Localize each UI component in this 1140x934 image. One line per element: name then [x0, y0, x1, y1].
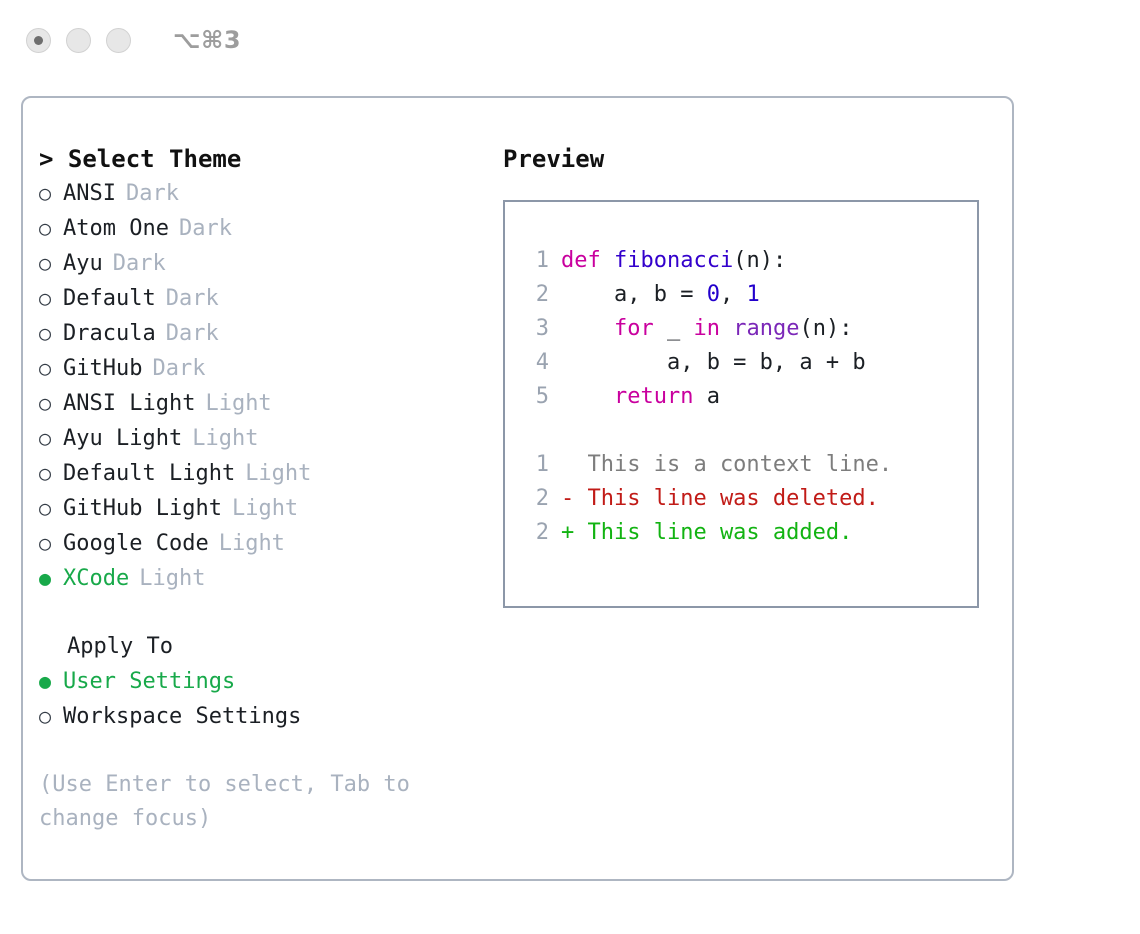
theme-option-row[interactable]: ○Atom OneDark: [39, 211, 479, 246]
theme-option-label: Default Light: [63, 457, 235, 491]
theme-option-variant-tag: Light: [232, 492, 298, 526]
radio-unselected-icon[interactable]: ○: [39, 526, 63, 560]
line-number: 1: [523, 448, 549, 482]
preview-heading: Preview: [503, 142, 983, 176]
code-token: This is a context line.: [561, 448, 892, 482]
code-token: for: [614, 312, 654, 346]
radio-unselected-icon[interactable]: ○: [39, 421, 63, 455]
theme-option-label: GitHub: [63, 352, 142, 386]
apply-to-option-label: User Settings: [63, 665, 235, 699]
radio-unselected-icon[interactable]: ○: [39, 211, 63, 245]
apply-to-heading: Apply To: [39, 630, 479, 664]
diff-sample: 1 This is a context line.2- This line wa…: [523, 448, 977, 550]
theme-option-label: Ayu Light: [63, 422, 182, 456]
theme-option-variant-tag: Light: [192, 422, 258, 456]
theme-option-variant-tag: Light: [245, 457, 311, 491]
main-panel: > Select Theme ○ANSIDark○Atom OneDark○Ay…: [21, 96, 1014, 881]
code-token: a, b =: [561, 278, 707, 312]
window-dot-third-icon[interactable]: [106, 28, 131, 53]
line-number: 5: [523, 380, 549, 414]
theme-option-row[interactable]: ○GitHub LightLight: [39, 491, 479, 526]
theme-option-label: ANSI: [63, 177, 116, 211]
window-dot-second-icon[interactable]: [66, 28, 91, 53]
line-number: 2: [523, 482, 549, 516]
radio-unselected-icon[interactable]: ○: [39, 351, 63, 385]
theme-option-label: XCode: [63, 562, 129, 596]
diff-line: 1 This is a context line.: [523, 448, 977, 482]
select-theme-heading: > Select Theme: [39, 142, 479, 176]
theme-option-row[interactable]: ○ANSIDark: [39, 176, 479, 211]
theme-option-variant-tag: Dark: [113, 247, 166, 281]
code-sample: 1def fibonacci(n):2 a, b = 0, 13 for _ i…: [523, 244, 977, 414]
theme-option-row[interactable]: ●XCodeLight: [39, 561, 479, 596]
theme-option-variant-tag: Dark: [179, 212, 232, 246]
radio-unselected-icon[interactable]: ○: [39, 176, 63, 210]
code-token: 1: [746, 278, 759, 312]
line-number: 1: [523, 244, 549, 278]
code-token: [561, 380, 614, 414]
theme-option-label: Default: [63, 282, 156, 316]
code-token: [720, 312, 733, 346]
window-titlebar: ⌥⌘3: [0, 0, 1140, 80]
theme-option-label: ANSI Light: [63, 387, 195, 421]
radio-unselected-icon[interactable]: ○: [39, 281, 63, 315]
preview-box: 1def fibonacci(n):2 a, b = 0, 13 for _ i…: [503, 200, 979, 608]
code-diff-separator: [523, 414, 977, 448]
list-spacer: [39, 596, 479, 630]
code-line: 1def fibonacci(n):: [523, 244, 977, 278]
code-token: ,: [720, 278, 747, 312]
theme-option-variant-tag: Light: [219, 527, 285, 561]
line-number: 4: [523, 346, 549, 380]
code-token: in: [693, 312, 720, 346]
code-line: 2 a, b = 0, 1: [523, 278, 977, 312]
code-token: def: [561, 244, 614, 278]
theme-option-label: Dracula: [63, 317, 156, 351]
code-line: 5 return a: [523, 380, 977, 414]
help-hint-text: (Use Enter to select, Tab to change focu…: [39, 768, 449, 836]
code-token: range: [733, 312, 799, 346]
theme-option-row[interactable]: ○DefaultDark: [39, 281, 479, 316]
radio-unselected-icon[interactable]: ○: [39, 456, 63, 490]
theme-option-row[interactable]: ○ANSI LightLight: [39, 386, 479, 421]
theme-option-label: GitHub Light: [63, 492, 222, 526]
theme-list[interactable]: ○ANSIDark○Atom OneDark○AyuDark○DefaultDa…: [39, 176, 479, 596]
window-controls: [26, 28, 131, 53]
code-token: fibonacci: [614, 244, 733, 278]
code-token: a, b = b, a + b: [561, 346, 866, 380]
theme-option-row[interactable]: ○DraculaDark: [39, 316, 479, 351]
radio-selected-icon[interactable]: ●: [39, 561, 63, 595]
theme-picker-window: ⌥⌘3 > Select Theme ○ANSIDark○Atom OneDar…: [0, 0, 1140, 934]
theme-option-label: Ayu: [63, 247, 103, 281]
theme-option-variant-tag: Dark: [152, 352, 205, 386]
theme-option-variant-tag: Dark: [166, 317, 219, 351]
theme-option-variant-tag: Light: [139, 562, 205, 596]
code-token: - This line was deleted.: [561, 482, 879, 516]
radio-selected-icon[interactable]: ●: [39, 664, 63, 698]
line-number: 2: [523, 278, 549, 312]
window-dot-active-inner: [34, 36, 43, 45]
radio-unselected-icon[interactable]: ○: [39, 491, 63, 525]
theme-option-row[interactable]: ○GitHubDark: [39, 351, 479, 386]
diff-line: 2+ This line was added.: [523, 516, 977, 550]
apply-to-option-label: Workspace Settings: [63, 700, 301, 734]
theme-option-row[interactable]: ○AyuDark: [39, 246, 479, 281]
keyboard-shortcut-label: ⌥⌘3: [173, 26, 241, 54]
diff-line: 2- This line was deleted.: [523, 482, 977, 516]
code-line: 4 a, b = b, a + b: [523, 346, 977, 380]
code-token: (n):: [733, 244, 786, 278]
radio-unselected-icon[interactable]: ○: [39, 699, 63, 733]
apply-to-option-row[interactable]: ●User Settings: [39, 664, 479, 699]
code-token: (n):: [799, 312, 852, 346]
theme-option-row[interactable]: ○Default LightLight: [39, 456, 479, 491]
code-line: 3 for _ in range(n):: [523, 312, 977, 346]
theme-option-variant-tag: Dark: [126, 177, 179, 211]
apply-to-list[interactable]: ●User Settings○Workspace Settings: [39, 664, 479, 734]
line-number: 2: [523, 516, 549, 550]
theme-option-variant-tag: Light: [205, 387, 271, 421]
line-number: 3: [523, 312, 549, 346]
theme-option-row[interactable]: ○Google CodeLight: [39, 526, 479, 561]
window-dot-active-icon[interactable]: [26, 28, 51, 53]
theme-option-row[interactable]: ○Ayu LightLight: [39, 421, 479, 456]
code-token: return: [614, 380, 693, 414]
code-token: a: [693, 380, 720, 414]
theme-option-label: Atom One: [63, 212, 169, 246]
theme-option-label: Google Code: [63, 527, 209, 561]
code-token: + This line was added.: [561, 516, 852, 550]
code-token: _: [654, 312, 694, 346]
theme-option-variant-tag: Dark: [166, 282, 219, 316]
radio-unselected-icon[interactable]: ○: [39, 316, 63, 350]
preview-column: Preview 1def fibonacci(n):2 a, b = 0, 13…: [503, 142, 983, 608]
radio-unselected-icon[interactable]: ○: [39, 386, 63, 420]
code-token: 0: [707, 278, 720, 312]
radio-unselected-icon[interactable]: ○: [39, 246, 63, 280]
apply-to-option-row[interactable]: ○Workspace Settings: [39, 699, 479, 734]
code-token: [561, 312, 614, 346]
theme-selection-column: > Select Theme ○ANSIDark○Atom OneDark○Ay…: [39, 142, 479, 836]
